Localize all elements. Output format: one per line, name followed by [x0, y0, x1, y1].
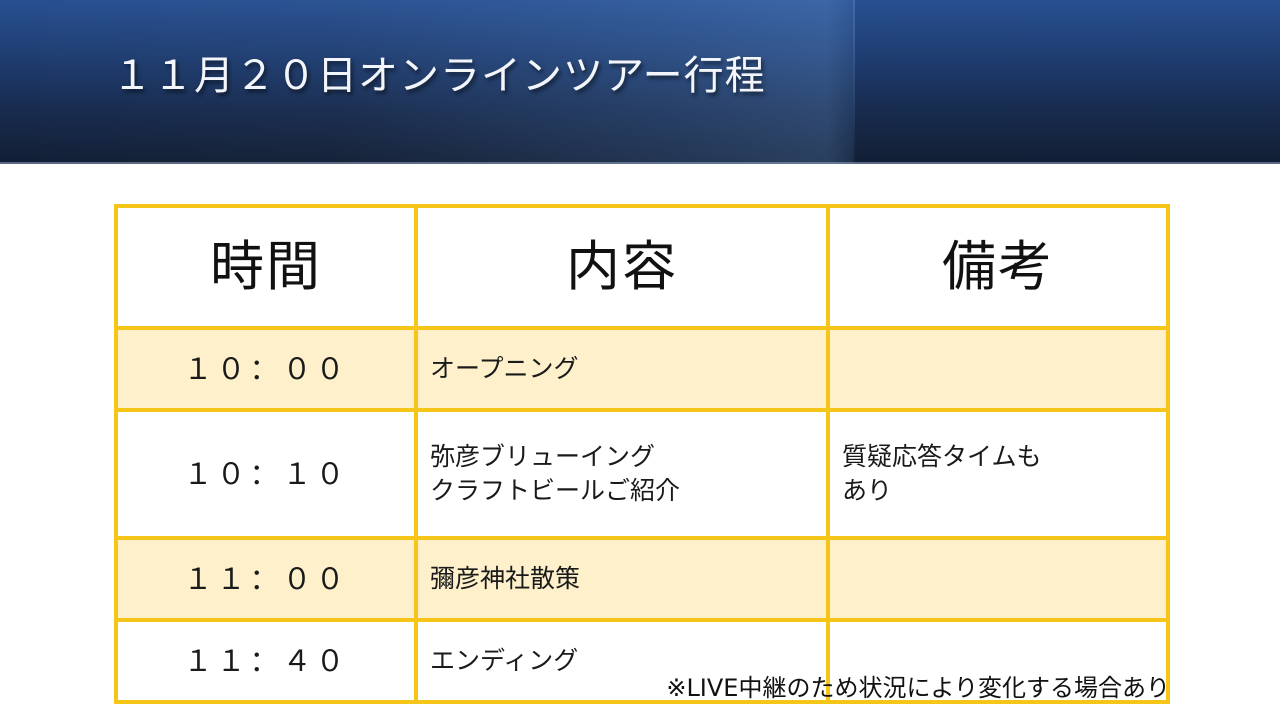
table-row: １０：１０ 弥彦ブリューイング クラフトビールご紹介 質疑応答タイムも あり	[116, 410, 1168, 538]
column-header-time: 時間	[116, 206, 416, 328]
column-header-content-label: 内容	[566, 235, 678, 298]
table-header-row: 時間 内容 備考	[116, 206, 1168, 328]
table-body: １０：００ オープニング １０：１０ 弥彦ブリューイング クラフトビールご紹介 …	[116, 328, 1168, 702]
time-value: １１：４０	[183, 644, 348, 678]
column-header-content: 内容	[416, 206, 828, 328]
table-row: １１：００ 彌彦神社散策	[116, 538, 1168, 620]
column-header-time-label: 時間	[210, 235, 322, 298]
title-banner: １１月２０日オンラインツアー行程	[0, 0, 1280, 164]
cell-note: 質疑応答タイムも あり	[828, 410, 1168, 538]
cell-content: 彌彦神社散策	[416, 538, 828, 620]
content-value: 彌彦神社散策	[430, 564, 580, 593]
banner-bottom-edge	[0, 162, 1280, 164]
table-header: 時間 内容 備考	[116, 206, 1168, 328]
time-value: １０：００	[183, 352, 348, 386]
content-value: エンディング	[430, 646, 578, 675]
cell-content: 弥彦ブリューイング クラフトビールご紹介	[416, 410, 828, 538]
cell-note	[828, 538, 1168, 620]
cell-content: オープニング	[416, 328, 828, 410]
cell-time: １０：１０	[116, 410, 416, 538]
cell-note	[828, 328, 1168, 410]
cell-time: １１：００	[116, 538, 416, 620]
note-value: 質疑応答タイムも あり	[842, 442, 1042, 506]
content-value: オープニング	[430, 354, 579, 383]
banner-divider-line	[853, 0, 855, 164]
time-value: １０：１０	[183, 457, 348, 491]
cell-time: １１：４０	[116, 620, 416, 702]
table-row: １０：００ オープニング	[116, 328, 1168, 410]
schedule-table: 時間 内容 備考 １０：００ オープニング １０：１０	[114, 204, 1170, 704]
cell-time: １０：００	[116, 328, 416, 410]
page-title: １１月２０日オンラインツアー行程	[112, 56, 766, 96]
column-header-note-label: 備考	[942, 235, 1054, 298]
column-header-note: 備考	[828, 206, 1168, 328]
content-value: 弥彦ブリューイング クラフトビールご紹介	[430, 442, 680, 506]
footnote-disclaimer: ※LIVE中継のため状況により変化する場合あり	[666, 676, 1170, 700]
time-value: １１：００	[183, 562, 348, 596]
